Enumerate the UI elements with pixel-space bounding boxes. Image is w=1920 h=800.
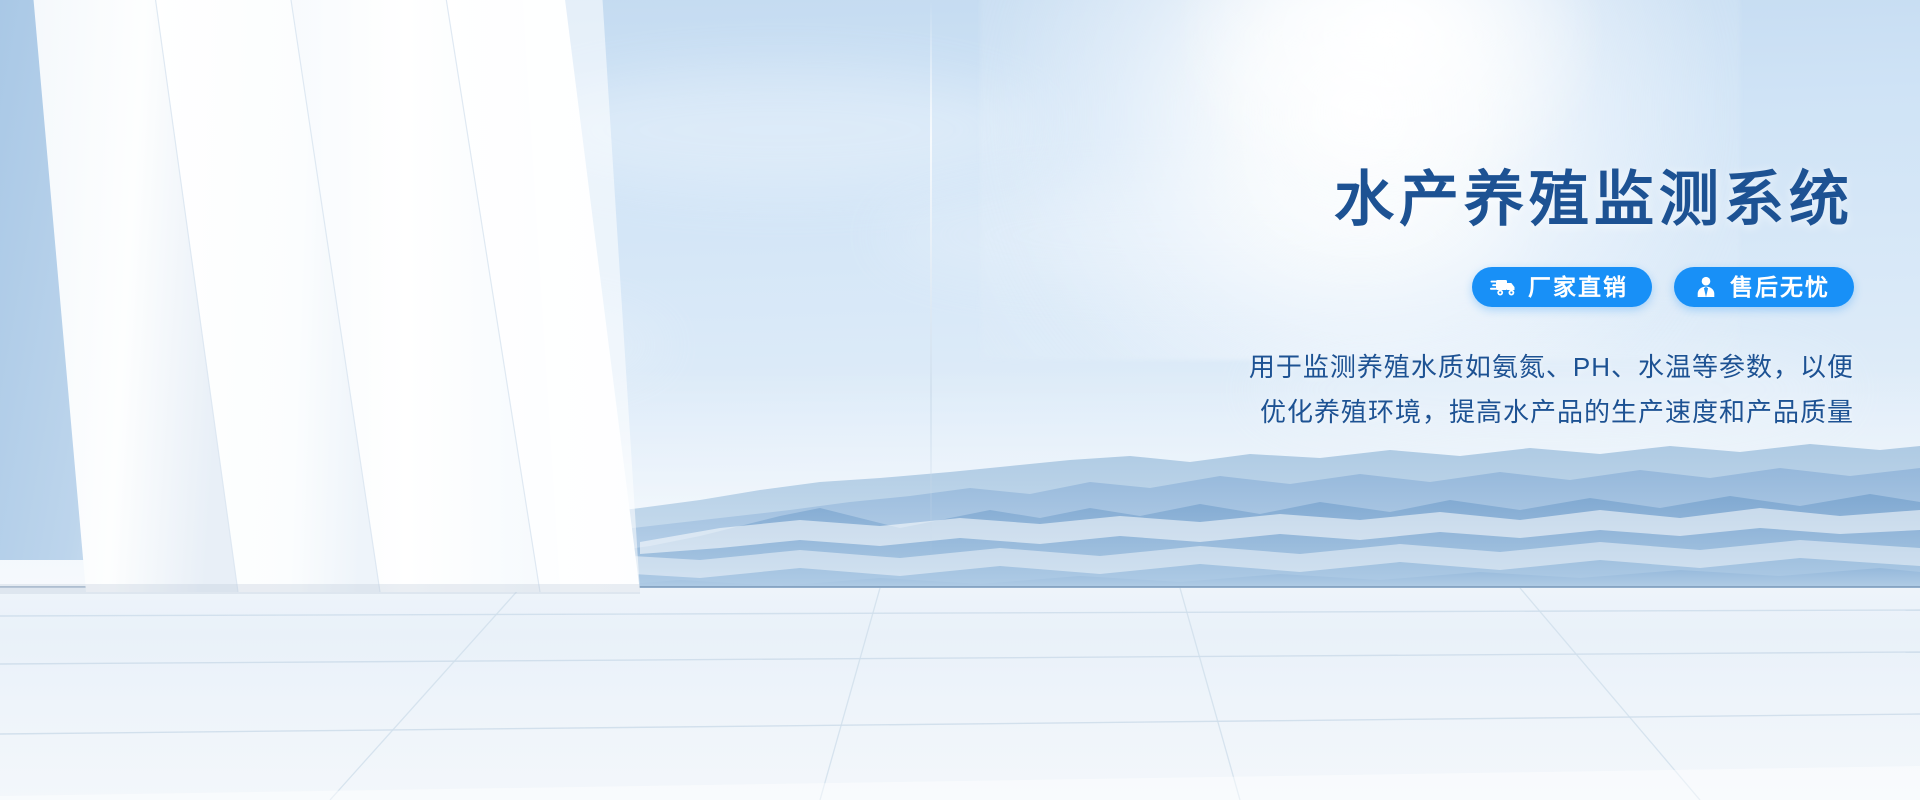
badge-label: 售后无忧 [1730,276,1830,299]
description-line-2: 优化养殖环境，提高水产品的生产速度和产品质量 [1134,390,1854,435]
floor-grid-lines [0,588,1920,800]
banner-content: 水产养殖监测系统 [1134,168,1854,434]
badge-factory-direct[interactable]: 厂家直销 [1472,267,1652,307]
banner-description: 用于监测养殖水质如氨氮、PH、水温等参数，以便 优化养殖环境，提高水产品的生产速… [1134,345,1854,434]
architecture-panels [0,0,640,600]
badge-after-sales[interactable]: 售后无忧 [1674,267,1854,307]
plaza-floor [0,588,1920,800]
badge-label: 厂家直销 [1528,276,1628,299]
badge-list: 厂家直销 售后无忧 [1134,267,1854,307]
truck-icon [1490,275,1518,299]
description-line-1: 用于监测养殖水质如氨氮、PH、水温等参数，以便 [1134,345,1854,390]
support-agent-icon [1692,275,1720,299]
page-title: 水产养殖监测系统 [1134,168,1854,231]
hero-banner: 水产养殖监测系统 [0,0,1920,800]
